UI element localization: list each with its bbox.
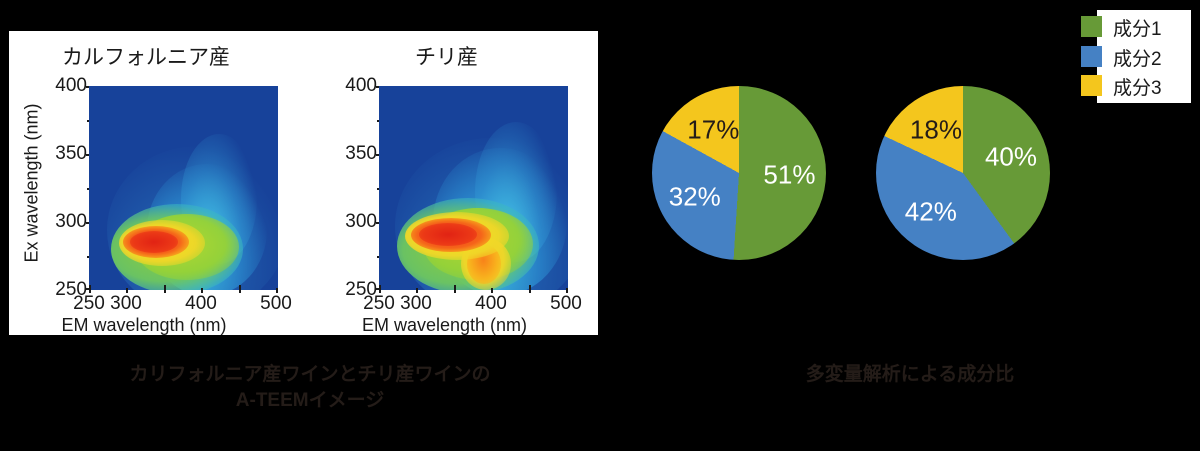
teem-map-chile: チリ産 Ex wavelength (nm) 400 350 300 250 <box>299 31 598 335</box>
pie-slice-label: 18% <box>910 115 962 146</box>
caption-left-line1: カリフォルニア産ワインとチリ産ワインの <box>0 362 620 388</box>
legend-swatch-component1 <box>1081 16 1102 37</box>
xtick-300: 300 <box>400 293 432 315</box>
ytick-300: 300 <box>55 211 87 233</box>
legend-swatch-component2 <box>1081 46 1102 67</box>
heat-red-center <box>130 231 178 253</box>
legend-item-component2[interactable]: 成分2 <box>1081 45 1191 68</box>
teem-plot-area-chile <box>379 86 568 290</box>
legend-label-component1: 成分1 <box>1113 14 1162 41</box>
ytick-400: 400 <box>345 75 377 97</box>
teem-xlabel-chile: EM wavelength (nm) <box>295 315 594 336</box>
xtickmark <box>379 285 381 293</box>
pie-slice-label: 32% <box>669 182 721 213</box>
heat-red-center <box>419 223 477 246</box>
ytick-400: 400 <box>55 75 87 97</box>
xtickmark <box>529 285 531 293</box>
legend-item-component1[interactable]: 成分1 <box>1081 15 1191 38</box>
pie-slice-label: 51% <box>763 159 815 190</box>
teem-map-california: カルフォルニア産 Ex wavelength (nm) 400 350 300 … <box>9 31 299 335</box>
xtick-400: 400 <box>185 293 217 315</box>
ytick-350: 350 <box>55 143 87 165</box>
teem-plot-area-california <box>89 86 278 290</box>
caption-right-line1: 多変量解析による成分比 <box>620 362 1200 388</box>
xtickmark <box>239 285 241 293</box>
xtick-500: 500 <box>550 293 582 315</box>
pie-slice-label: 17% <box>687 114 739 145</box>
teem-yaxis-california: 400 350 300 250 <box>9 86 87 290</box>
teem-yaxis-chile: 400 350 300 250 <box>299 86 377 290</box>
xtick-400: 400 <box>475 293 507 315</box>
pie-slice-label: 40% <box>985 142 1037 173</box>
teem-title-california: カルフォルニア産 <box>1 41 291 71</box>
caption-right: 多変量解析による成分比 <box>620 362 1200 388</box>
legend: 成分1 成分2 成分3 <box>1097 10 1191 103</box>
xtick-250: 250 <box>363 293 395 315</box>
legend-label-component3: 成分3 <box>1113 73 1162 100</box>
legend-label-component2: 成分2 <box>1113 44 1162 71</box>
legend-item-component3[interactable]: 成分3 <box>1081 74 1191 97</box>
ytick-300: 300 <box>345 211 377 233</box>
xtick-250: 250 <box>73 293 105 315</box>
pie-slice-label: 42% <box>905 196 957 227</box>
ytick-350: 350 <box>345 143 377 165</box>
pie-chart-chile <box>876 86 1050 260</box>
caption-left: カリフォルニア産ワインとチリ産ワインの A-TEEMイメージ <box>0 362 620 414</box>
figure-canvas: カルフォルニア産 Ex wavelength (nm) 400 350 300 … <box>0 0 1200 451</box>
xtickmark <box>454 285 456 293</box>
xtickmark <box>164 285 166 293</box>
teem-panel: カルフォルニア産 Ex wavelength (nm) 400 350 300 … <box>9 31 598 335</box>
legend-swatch-component3 <box>1081 75 1102 96</box>
xtick-300: 300 <box>110 293 142 315</box>
teem-title-chile: チリ産 <box>297 41 596 71</box>
xtick-500: 500 <box>260 293 292 315</box>
xtickmark <box>89 285 91 293</box>
caption-left-line2: A-TEEMイメージ <box>0 388 620 414</box>
teem-xlabel-california: EM wavelength (nm) <box>0 315 289 336</box>
